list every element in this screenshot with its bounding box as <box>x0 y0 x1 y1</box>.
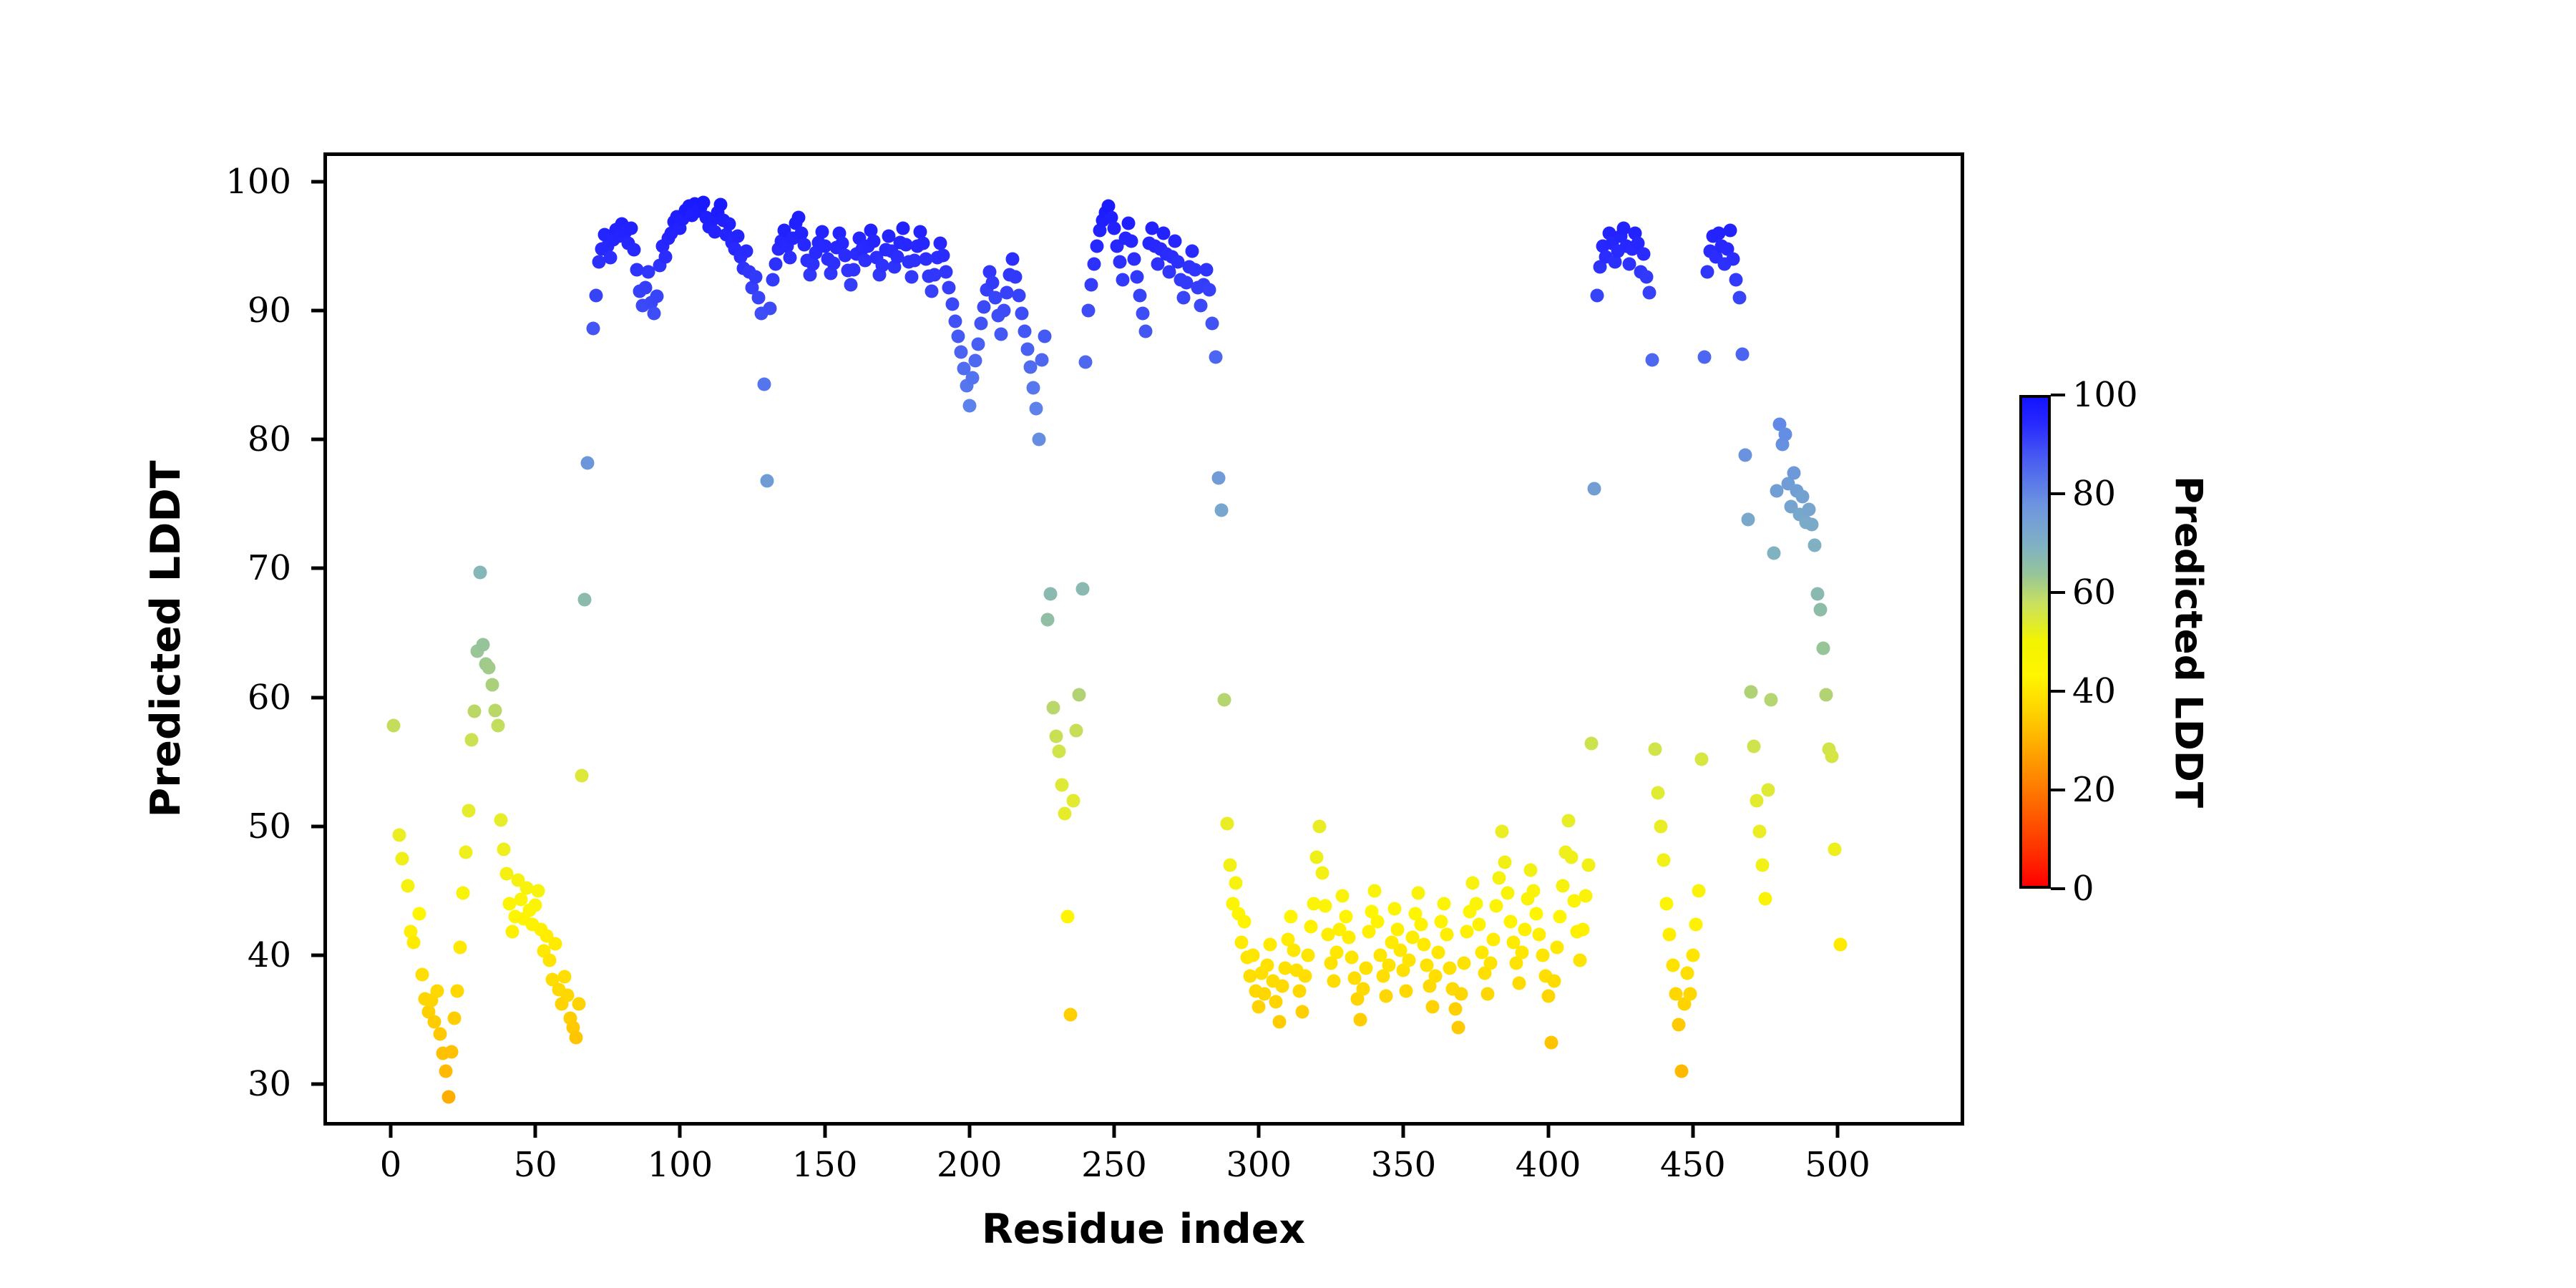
data-point <box>1020 343 1034 356</box>
x-tick-label: 50 <box>457 1145 614 1185</box>
data-point <box>459 845 473 859</box>
data-point <box>1588 482 1601 495</box>
data-point <box>1206 317 1219 331</box>
data-point <box>1050 729 1063 743</box>
data-point <box>1044 587 1058 601</box>
x-tick-mark <box>1546 1122 1550 1138</box>
data-point <box>1200 263 1214 276</box>
data-point <box>968 354 982 368</box>
y-tick-label: 90 <box>105 291 291 331</box>
data-point <box>1483 956 1497 970</box>
data-point <box>757 377 771 391</box>
data-point <box>1729 273 1743 286</box>
data-point <box>1053 745 1066 758</box>
data-point <box>1168 234 1181 248</box>
data-point <box>575 769 588 783</box>
data-point <box>1680 967 1694 980</box>
data-point <box>1070 724 1083 738</box>
data-point <box>1738 448 1752 462</box>
data-point <box>1220 817 1234 831</box>
data-point <box>1460 925 1474 939</box>
x-tick-label: 500 <box>1759 1145 1916 1185</box>
data-point <box>1298 969 1312 982</box>
colorbar-tick-mark <box>2051 492 2065 495</box>
data-point <box>488 703 502 717</box>
data-point <box>1692 884 1705 897</box>
data-point <box>954 345 967 358</box>
data-point <box>815 225 829 239</box>
data-point <box>1327 974 1341 987</box>
data-point <box>627 243 640 257</box>
data-point <box>1516 946 1529 960</box>
data-point <box>1342 930 1355 944</box>
data-point <box>1660 897 1674 910</box>
data-point <box>1654 819 1668 833</box>
data-point <box>1353 1013 1367 1026</box>
data-point <box>1295 1005 1309 1019</box>
data-point <box>1414 917 1428 931</box>
data-point <box>1194 298 1208 312</box>
data-point <box>1591 288 1604 302</box>
data-point <box>1455 987 1468 1000</box>
data-point <box>1252 1000 1266 1013</box>
data-point <box>1732 291 1746 305</box>
data-point <box>925 285 939 298</box>
data-point <box>1492 871 1506 884</box>
x-axis-label: Residue index <box>982 1206 1305 1253</box>
data-point <box>1744 686 1757 699</box>
data-point <box>462 804 476 818</box>
data-point <box>1388 902 1402 915</box>
data-point <box>1371 914 1385 928</box>
x-tick-label: 300 <box>1180 1145 1337 1185</box>
data-point <box>1367 884 1381 897</box>
data-point <box>1472 917 1485 931</box>
x-tick-mark <box>1402 1122 1405 1138</box>
data-point <box>1316 866 1330 879</box>
data-point <box>1428 969 1442 982</box>
data-point <box>1237 914 1251 928</box>
data-point <box>1652 786 1665 799</box>
data-point <box>1211 472 1225 485</box>
y-tick-mark <box>311 309 327 313</box>
colorbar-tick-mark <box>2051 887 2065 890</box>
data-point <box>413 907 426 921</box>
data-point <box>659 250 673 263</box>
data-point <box>1469 897 1483 910</box>
data-point <box>1643 286 1657 299</box>
data-point <box>1133 288 1147 302</box>
data-point <box>624 221 638 235</box>
data-point <box>1319 899 1332 913</box>
data-point <box>1012 288 1025 302</box>
data-point <box>1452 1020 1465 1034</box>
data-point <box>1310 850 1324 864</box>
data-point <box>1758 892 1772 905</box>
data-point <box>1113 255 1127 268</box>
x-tick-label: 100 <box>601 1145 758 1185</box>
x-tick-label: 250 <box>1035 1145 1193 1185</box>
data-point <box>1585 737 1599 751</box>
colorbar-tick-label: 80 <box>2072 474 2116 514</box>
data-point <box>1125 234 1138 248</box>
data-point <box>1214 504 1228 517</box>
data-point <box>1807 539 1821 552</box>
data-point <box>396 852 409 865</box>
data-point <box>1292 985 1306 998</box>
data-point <box>433 1027 447 1040</box>
data-point <box>1501 887 1514 900</box>
data-point <box>1579 889 1593 902</box>
data-point <box>1029 402 1043 416</box>
data-point <box>1765 693 1778 707</box>
data-point <box>1261 959 1274 972</box>
y-tick-label: 40 <box>105 935 291 975</box>
data-point <box>1724 224 1737 238</box>
x-tick-label: 200 <box>891 1145 1048 1185</box>
data-point <box>1674 1064 1688 1078</box>
data-point <box>1533 928 1546 942</box>
data-point <box>407 935 421 949</box>
data-point <box>1006 253 1020 266</box>
data-point <box>557 970 571 984</box>
y-tick-label: 80 <box>105 419 291 459</box>
data-point <box>529 898 542 912</box>
data-point <box>1359 961 1372 975</box>
y-tick-label: 30 <box>105 1064 291 1104</box>
x-tick-mark <box>389 1122 392 1138</box>
data-point <box>1663 928 1677 942</box>
data-point <box>569 1031 582 1045</box>
data-point <box>1550 941 1563 955</box>
data-point <box>1779 428 1792 441</box>
data-point <box>1735 348 1749 361</box>
x-tick-label: 450 <box>1614 1145 1772 1185</box>
data-point <box>572 997 585 1011</box>
data-point <box>1646 353 1659 366</box>
data-point <box>1287 943 1300 957</box>
data-point <box>532 884 545 897</box>
data-point <box>1741 512 1755 526</box>
data-point <box>1336 889 1350 902</box>
y-tick-label: 60 <box>105 678 291 718</box>
data-point <box>1055 779 1069 792</box>
data-point <box>1339 909 1352 923</box>
data-point <box>1556 879 1569 892</box>
data-point <box>917 237 930 250</box>
data-point <box>587 322 600 336</box>
data-point <box>1040 613 1054 627</box>
data-point <box>1380 990 1393 1003</box>
data-point <box>1275 980 1289 993</box>
data-point <box>1761 784 1775 797</box>
y-tick-mark <box>311 1082 327 1085</box>
data-point <box>1038 330 1051 343</box>
data-point <box>1825 750 1838 763</box>
data-point <box>1264 938 1277 952</box>
data-point <box>477 638 490 651</box>
data-point <box>1107 221 1121 235</box>
data-point <box>1701 265 1714 279</box>
data-point <box>806 258 820 271</box>
data-point <box>1356 982 1370 995</box>
data-point <box>491 719 504 733</box>
y-tick-mark <box>311 953 327 957</box>
colorbar-tick-mark <box>2051 789 2065 791</box>
y-axis-label: Predicted LDDT <box>142 460 190 817</box>
data-point <box>997 304 1011 318</box>
data-point <box>447 1012 461 1025</box>
x-tick-mark <box>678 1122 682 1138</box>
x-tick-label: 150 <box>746 1145 904 1185</box>
data-point <box>1504 914 1518 928</box>
data-point <box>650 290 664 303</box>
data-point <box>792 211 806 225</box>
data-point <box>1032 433 1045 447</box>
data-point <box>1686 948 1699 962</box>
data-point <box>1084 278 1098 292</box>
data-point <box>1755 858 1769 872</box>
data-point <box>1234 935 1248 949</box>
data-point <box>604 251 618 265</box>
data-point <box>696 195 710 209</box>
data-point <box>1058 806 1072 820</box>
data-point <box>1536 948 1549 962</box>
data-point <box>401 879 415 892</box>
data-point <box>1458 956 1471 970</box>
data-point <box>867 234 881 248</box>
data-point <box>1128 253 1141 266</box>
y-tick-mark <box>311 438 327 441</box>
colorbar: 020406080100 <box>2019 395 2051 889</box>
data-point <box>763 301 776 315</box>
data-point <box>1139 324 1153 338</box>
data-point <box>1524 863 1538 877</box>
data-point <box>1752 824 1766 838</box>
x-tick-mark <box>1836 1122 1840 1138</box>
data-point <box>1209 351 1222 364</box>
data-point <box>769 258 782 271</box>
data-point <box>393 829 406 842</box>
x-tick-mark <box>534 1122 537 1138</box>
data-point <box>723 218 736 231</box>
data-point <box>1816 642 1830 655</box>
data-point <box>995 327 1008 341</box>
y-tick-mark <box>311 567 327 570</box>
data-point <box>1047 701 1060 714</box>
data-point <box>497 843 510 857</box>
data-point <box>1018 324 1031 338</box>
data-point <box>1666 959 1679 972</box>
data-point <box>1425 1000 1439 1013</box>
data-point <box>1828 843 1841 857</box>
data-point <box>1486 933 1500 947</box>
data-point <box>1527 884 1541 897</box>
colorbar-gradient <box>2019 395 2051 889</box>
data-point <box>638 280 652 294</box>
data-point <box>974 317 987 331</box>
colorbar-tick-mark <box>2051 690 2065 693</box>
data-point <box>1122 216 1136 230</box>
data-point <box>740 245 753 258</box>
data-point <box>590 288 603 302</box>
x-tick-mark <box>1112 1122 1116 1138</box>
data-point <box>1819 688 1833 701</box>
data-point <box>826 256 840 270</box>
data-point <box>847 263 861 276</box>
data-point <box>1246 948 1260 962</box>
data-point <box>1834 938 1848 952</box>
data-point <box>1672 1018 1685 1032</box>
data-point <box>1541 990 1555 1003</box>
data-point <box>1417 938 1430 952</box>
data-point <box>1576 922 1590 936</box>
data-point <box>468 705 482 718</box>
data-point <box>1727 253 1740 266</box>
data-point <box>948 314 962 328</box>
data-point <box>962 399 976 413</box>
data-point <box>1131 270 1144 284</box>
data-point <box>1186 245 1199 258</box>
data-point <box>1304 920 1317 934</box>
data-point <box>1081 304 1095 318</box>
colorbar-tick-mark <box>2051 394 2065 396</box>
x-tick-mark <box>1691 1122 1694 1138</box>
data-point <box>986 275 1000 289</box>
data-point <box>439 1064 452 1078</box>
data-point <box>1813 603 1827 617</box>
data-point <box>1770 484 1784 498</box>
data-point <box>1582 858 1596 872</box>
data-point <box>485 678 499 691</box>
data-point <box>465 733 479 747</box>
data-point <box>1023 361 1037 374</box>
data-point <box>1544 1036 1558 1050</box>
data-point <box>1073 688 1086 701</box>
data-point <box>1400 985 1413 998</box>
data-point <box>1223 858 1236 872</box>
data-point <box>904 270 918 284</box>
data-point <box>951 330 965 343</box>
data-point <box>1640 270 1654 284</box>
data-point <box>1026 381 1040 395</box>
data-point <box>1513 977 1526 990</box>
data-point <box>1805 518 1818 532</box>
data-point <box>441 1090 455 1103</box>
data-point <box>1269 995 1283 1008</box>
data-point <box>1498 856 1511 869</box>
data-point <box>494 813 507 826</box>
data-point <box>450 985 464 998</box>
data-point <box>1061 909 1075 923</box>
data-point <box>1796 489 1810 503</box>
data-point <box>1449 1002 1463 1016</box>
data-point <box>1480 987 1494 1000</box>
y-tick-mark <box>311 696 327 699</box>
data-point <box>543 954 557 967</box>
data-point <box>1553 909 1566 923</box>
data-point <box>1203 283 1216 297</box>
data-point <box>577 592 591 606</box>
data-point <box>1330 946 1344 960</box>
data-point <box>1489 899 1503 913</box>
colorbar-tick-label: 60 <box>2072 572 2116 613</box>
data-point <box>1177 291 1191 305</box>
colorbar-tick-label: 0 <box>2072 869 2094 909</box>
data-point <box>1382 959 1396 972</box>
data-point <box>1495 824 1508 838</box>
data-point <box>760 474 774 487</box>
data-point <box>1313 819 1327 833</box>
data-point <box>505 925 519 939</box>
x-tick-label: 0 <box>312 1145 469 1185</box>
x-tick-mark <box>967 1122 971 1138</box>
data-point <box>942 280 956 294</box>
x-tick-mark <box>1257 1122 1261 1138</box>
figure-canvas: 3040506070809010005010015020025030035040… <box>0 0 2576 1288</box>
data-point <box>1078 356 1092 369</box>
data-point <box>1574 954 1587 967</box>
data-point <box>1075 582 1089 596</box>
data-point <box>713 198 727 212</box>
data-point <box>1090 240 1103 253</box>
x-tick-mark <box>823 1122 826 1138</box>
data-point <box>1035 353 1048 366</box>
data-point <box>1561 814 1575 828</box>
data-point <box>1802 502 1815 516</box>
y-tick-label: 70 <box>105 548 291 588</box>
data-point <box>560 988 574 1002</box>
data-point <box>751 291 765 305</box>
data-point <box>896 221 909 235</box>
data-point <box>1434 914 1448 928</box>
scatter-points-layer <box>327 156 1961 1122</box>
data-point <box>580 456 594 469</box>
data-point <box>474 565 487 579</box>
data-point <box>1391 922 1405 936</box>
data-point <box>1689 917 1702 931</box>
data-point <box>1530 907 1543 921</box>
x-tick-label: 400 <box>1470 1145 1627 1185</box>
colorbar-label: Predicted LDDT <box>2167 476 2210 808</box>
colorbar-tick-mark <box>2051 591 2065 594</box>
data-point <box>1009 270 1023 284</box>
data-point <box>766 273 779 286</box>
data-point <box>1697 351 1711 364</box>
data-point <box>457 887 470 900</box>
data-point <box>1443 961 1457 975</box>
data-point <box>1064 1008 1078 1021</box>
data-point <box>444 1045 458 1058</box>
data-point <box>1116 273 1130 286</box>
data-point <box>1787 467 1801 480</box>
data-point <box>1272 1015 1286 1029</box>
data-point <box>1747 740 1760 753</box>
y-tick-mark <box>311 824 327 828</box>
data-point <box>731 229 745 243</box>
x-tick-label: 350 <box>1324 1145 1482 1185</box>
y-tick-mark <box>311 180 327 184</box>
data-point <box>1438 897 1451 910</box>
y-tick-label: 100 <box>105 162 291 202</box>
data-point <box>1564 850 1578 864</box>
data-point <box>937 248 950 262</box>
data-point <box>482 661 496 675</box>
data-point <box>1217 693 1231 707</box>
data-point <box>748 270 762 284</box>
data-point <box>1466 876 1480 889</box>
y-tick-label: 50 <box>105 806 291 847</box>
